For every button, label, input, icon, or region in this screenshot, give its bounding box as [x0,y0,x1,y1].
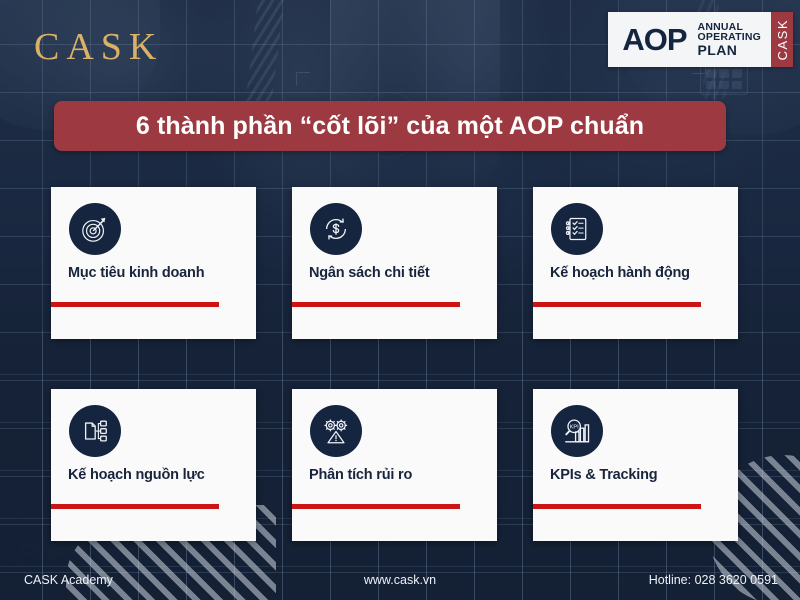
card-title: Phân tích rủi ro [309,467,487,483]
card-business-goals[interactable]: Mục tiêu kinh doanh [51,187,256,339]
checklist-icon [551,203,603,255]
card-underline [292,302,460,307]
card-title: Mục tiêu kinh doanh [68,265,246,281]
resource-flow-icon [69,405,121,457]
title-banner: 6 thành phần “cốt lõi” của một AOP chuẩn [54,101,726,151]
card-title: Ngân sách chi tiết [309,265,487,281]
svg-text:KPI: KPI [570,425,579,431]
card-action-plan[interactable]: Kế hoạch hành động [533,187,738,339]
card-underline [533,302,701,307]
card-underline [51,504,219,509]
card-risk-analysis[interactable]: Phân tích rủi ro [292,389,497,541]
aop-badge-side: CASK [771,12,793,67]
aop-badge-main: AOP ANNUAL OPERATING PLAN [608,12,771,67]
card-underline [533,504,701,509]
footer-hotline: Hotline: 028 3620 0591 [649,573,778,587]
card-title: Kế hoạch hành động [550,265,728,281]
card-title: KPIs & Tracking [550,467,728,483]
aop-line-plan: PLAN [698,43,761,57]
card-detailed-budget[interactable]: Ngân sách chi tiết [292,187,497,339]
target-icon [69,203,121,255]
card-resource-plan[interactable]: Kế hoạch nguồn lực [51,389,256,541]
aop-subtitle: ANNUAL OPERATING PLAN [698,22,761,58]
card-underline [292,504,460,509]
magnifier-chart-icon: KPI [551,405,603,457]
money-cycle-icon [310,203,362,255]
component-card-grid: Mục tiêu kinh doanh Ngân sách chi tiết [51,187,751,541]
card-underline [51,302,219,307]
cask-logo: CASK [34,28,163,66]
page-title: 6 thành phần “cốt lõi” của một AOP chuẩn [136,112,644,141]
aop-abbrev: AOP [622,24,686,55]
card-title: Kế hoạch nguồn lực [68,467,246,483]
aop-side-label: CASK [775,19,790,60]
infographic-canvas: Outputs Inputs Analysis Process Plan CAS… [0,0,800,600]
card-kpis-tracking[interactable]: KPI KPIs & Tracking [533,389,738,541]
aop-badge: AOP ANNUAL OPERATING PLAN CASK [608,12,793,67]
footer: CASK Academy www.cask.vn Hotline: 028 36… [0,560,800,600]
gears-warning-icon [310,405,362,457]
